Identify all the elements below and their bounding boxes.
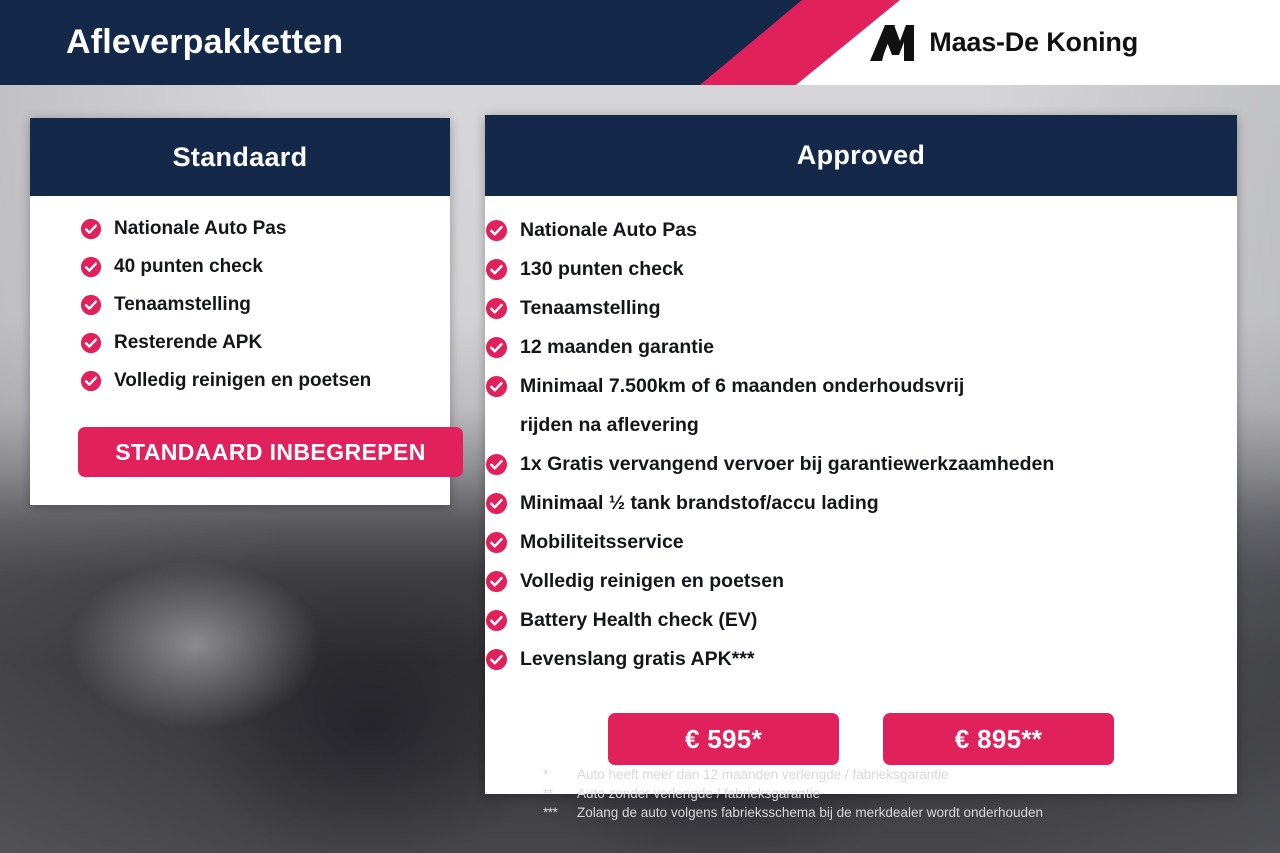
feature-label: rijden na aflevering — [520, 413, 699, 437]
check-circle-icon — [485, 492, 508, 515]
feature-label: Minimaal ½ tank brandstof/accu lading — [520, 491, 879, 515]
package-body-approved: Nationale Auto Pas130 punten checkTenaam… — [485, 196, 1237, 794]
footnote-text: Auto zonder verlengde / fabrieksgarantie — [577, 784, 820, 803]
feature-item: Battery Health check (EV) — [485, 608, 1237, 632]
feature-item: 12 maanden garantie — [485, 335, 1237, 359]
feature-label: Nationale Auto Pas — [520, 218, 697, 242]
packages-stage: Standaard Nationale Auto Pas40 punten ch… — [0, 0, 1280, 853]
feature-item: 130 punten check — [485, 257, 1237, 281]
footnote-row: ***Zolang de auto volgens fabrieksschema… — [543, 803, 1043, 822]
feature-label: 130 punten check — [520, 257, 684, 281]
footnote-row: *Auto heeft meer dan 12 maanden verlengd… — [543, 765, 1043, 784]
footnote-marker: *** — [543, 803, 577, 822]
feature-label: 1x Gratis vervangend vervoer bij garanti… — [520, 452, 1054, 476]
check-circle-icon — [485, 258, 508, 281]
check-circle-icon — [485, 648, 508, 671]
feature-item: Mobiliteitsservice — [485, 530, 1237, 554]
page-title: Afleverpakketten — [66, 0, 343, 85]
price-button-2[interactable]: € 895** — [883, 713, 1114, 765]
check-circle-icon — [485, 297, 508, 320]
feature-label: Levenslang gratis APK*** — [520, 647, 754, 671]
package-title-approved: Approved — [485, 115, 1237, 196]
feature-list-approved: Nationale Auto Pas130 punten checkTenaam… — [0, 218, 1237, 671]
feature-item: rijden na aflevering — [485, 413, 1237, 437]
footnotes: *Auto heeft meer dan 12 maanden verlengd… — [543, 765, 1043, 822]
feature-item: Tenaamstelling — [485, 296, 1237, 320]
feature-label: Tenaamstelling — [520, 296, 661, 320]
footnote-marker: * — [543, 765, 577, 784]
feature-label: Minimaal 7.500km of 6 maanden onderhouds… — [520, 374, 964, 398]
package-card-approved: Approved Nationale Auto Pas130 punten ch… — [485, 115, 1237, 794]
feature-item: 1x Gratis vervangend vervoer bij garanti… — [485, 452, 1237, 476]
maas-de-koning-m-mark-icon — [870, 25, 916, 61]
footnote-text: Auto heeft meer dan 12 maanden verlengde… — [577, 765, 949, 784]
check-circle-icon — [485, 336, 508, 359]
feature-label: Battery Health check (EV) — [520, 608, 757, 632]
check-circle-icon — [485, 609, 508, 632]
feature-item: Levenslang gratis APK*** — [485, 647, 1237, 671]
check-circle-icon — [485, 453, 508, 476]
price-button-1[interactable]: € 595* — [608, 713, 839, 765]
check-circle-icon — [485, 531, 508, 554]
feature-item: Minimaal 7.500km of 6 maanden onderhouds… — [485, 374, 1237, 398]
footnote-text: Zolang de auto volgens fabrieksschema bi… — [577, 803, 1043, 822]
page-header: Afleverpakketten Maas-De Koning — [0, 0, 1280, 85]
brand-name: Maas-De Koning — [929, 27, 1138, 58]
footnote-row: **Auto zonder verlengde / fabrieksgarant… — [543, 784, 1043, 803]
feature-item: Nationale Auto Pas — [485, 218, 1237, 242]
check-circle-icon — [485, 219, 508, 242]
feature-label: Mobiliteitsservice — [520, 530, 684, 554]
feature-item: Minimaal ½ tank brandstof/accu lading — [485, 491, 1237, 515]
package-title-standaard: Standaard — [30, 118, 450, 196]
footnote-marker: ** — [543, 784, 577, 803]
feature-item: Volledig reinigen en poetsen — [485, 569, 1237, 593]
feature-label: Volledig reinigen en poetsen — [520, 569, 784, 593]
check-circle-icon — [485, 375, 508, 398]
brand-logo: Maas-De Koning — [870, 0, 1138, 85]
feature-label: 12 maanden garantie — [520, 335, 714, 359]
check-circle-icon — [485, 570, 508, 593]
